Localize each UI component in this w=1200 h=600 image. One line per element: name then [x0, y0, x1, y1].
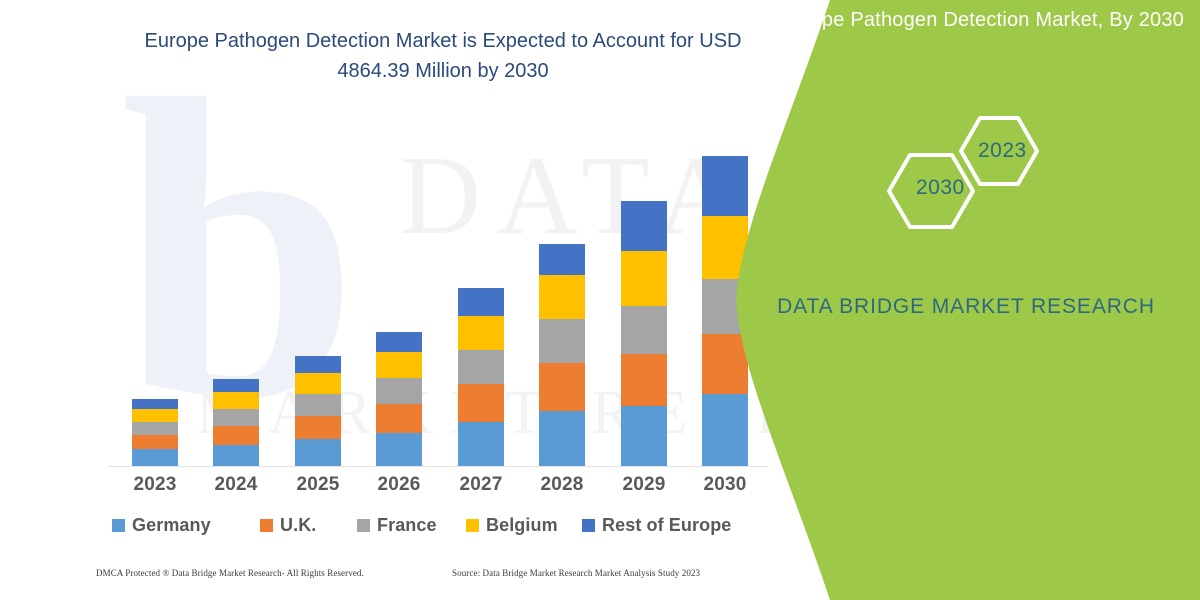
bar-2024[interactable]	[213, 379, 259, 466]
legend-item-u-k[interactable]: U.K.	[260, 510, 316, 540]
bar-segment-france	[621, 306, 667, 354]
bar-segment-belgium	[376, 352, 422, 378]
bar-segment-rest-of-europe	[539, 244, 585, 275]
bar-2023[interactable]	[132, 399, 178, 466]
bar-segment-germany	[295, 439, 341, 466]
bar-segment-rest-of-europe	[458, 288, 504, 316]
bar-segment-france	[132, 422, 178, 435]
bar-segment-germany	[213, 445, 259, 466]
hexagon-2023-label: 2023	[978, 139, 1027, 163]
legend-label: Germany	[132, 515, 211, 536]
x-axis-label-2023: 2023	[116, 474, 194, 496]
legend-swatch-icon	[466, 519, 479, 532]
legend-label: Rest of Europe	[602, 515, 731, 536]
bar-segment-belgium	[539, 275, 585, 319]
chart-legend: GermanyU.K.FranceBelgiumRest of Europe	[112, 510, 772, 540]
bar-segment-uk	[458, 384, 504, 422]
bar-2029[interactable]	[621, 201, 667, 466]
bar-2026[interactable]	[376, 332, 422, 466]
bar-segment-belgium	[213, 392, 259, 409]
legend-item-rest-of-europe[interactable]: Rest of Europe	[582, 510, 731, 540]
chart-plot	[108, 140, 768, 466]
bar-segment-germany	[132, 449, 178, 466]
bar-segment-belgium	[458, 316, 504, 350]
legend-swatch-icon	[357, 519, 370, 532]
bar-segment-germany	[621, 406, 667, 466]
bar-segment-uk	[132, 435, 178, 449]
bar-segment-germany	[539, 411, 585, 466]
bar-segment-france	[376, 378, 422, 404]
bar-segment-rest-of-europe	[132, 399, 178, 409]
bar-segment-uk	[376, 404, 422, 433]
bar-2025[interactable]	[295, 356, 341, 466]
x-axis-label-2026: 2026	[360, 474, 438, 496]
legend-label: Belgium	[486, 515, 558, 536]
bar-segment-uk	[295, 416, 341, 439]
legend-swatch-icon	[582, 519, 595, 532]
bar-segment-germany	[376, 433, 422, 466]
bar-segment-rest-of-europe	[376, 332, 422, 352]
x-axis-label-2028: 2028	[523, 474, 601, 496]
infographic-root: b DATA BRIDGE MARKET RESEARCH Europe Pat…	[0, 0, 1200, 600]
legend-item-belgium[interactable]: Belgium	[466, 510, 558, 540]
bar-segment-rest-of-europe	[213, 379, 259, 392]
bar-segment-france	[213, 409, 259, 426]
bar-segment-rest-of-europe	[621, 201, 667, 251]
x-axis-label-2027: 2027	[442, 474, 520, 496]
x-axis-label-2025: 2025	[279, 474, 357, 496]
bar-segment-uk	[539, 363, 585, 411]
brand-panel-company-name: DATA BRIDGE MARKET RESEARCH	[760, 290, 1172, 323]
bar-segment-uk	[621, 354, 667, 406]
legend-item-germany[interactable]: Germany	[112, 510, 211, 540]
bar-segment-belgium	[621, 251, 667, 306]
chart-area: Europe Pathogen Detection Market is Expe…	[0, 0, 800, 600]
legend-swatch-icon	[260, 519, 273, 532]
bar-segment-belgium	[132, 409, 178, 422]
brand-panel: Europe Pathogen Detection Market, By 203…	[730, 0, 1200, 600]
chart-title: Europe Pathogen Detection Market is Expe…	[118, 26, 768, 86]
legend-label: U.K.	[280, 515, 316, 536]
bar-segment-france	[539, 319, 585, 363]
legend-item-france[interactable]: France	[357, 510, 437, 540]
legend-label: France	[377, 515, 437, 536]
x-axis-label-2029: 2029	[605, 474, 683, 496]
bar-segment-belgium	[295, 373, 341, 394]
hexagon-2030-label: 2030	[916, 176, 965, 200]
footer-copyright: DMCA Protected ® Data Bridge Market Rese…	[96, 568, 364, 578]
footer-source: Source: Data Bridge Market Research Mark…	[452, 568, 700, 578]
chart-x-axis-labels: 20232024202520262027202820292030	[108, 474, 768, 502]
legend-swatch-icon	[112, 519, 125, 532]
bar-segment-uk	[213, 426, 259, 445]
x-axis-label-2024: 2024	[197, 474, 275, 496]
bar-2028[interactable]	[539, 244, 585, 466]
bar-segment-france	[458, 350, 504, 384]
bar-segment-rest-of-europe	[295, 356, 341, 373]
bar-segment-germany	[458, 422, 504, 466]
chart-baseline-axis	[108, 466, 768, 467]
bar-segment-france	[295, 394, 341, 416]
bar-2027[interactable]	[458, 288, 504, 466]
